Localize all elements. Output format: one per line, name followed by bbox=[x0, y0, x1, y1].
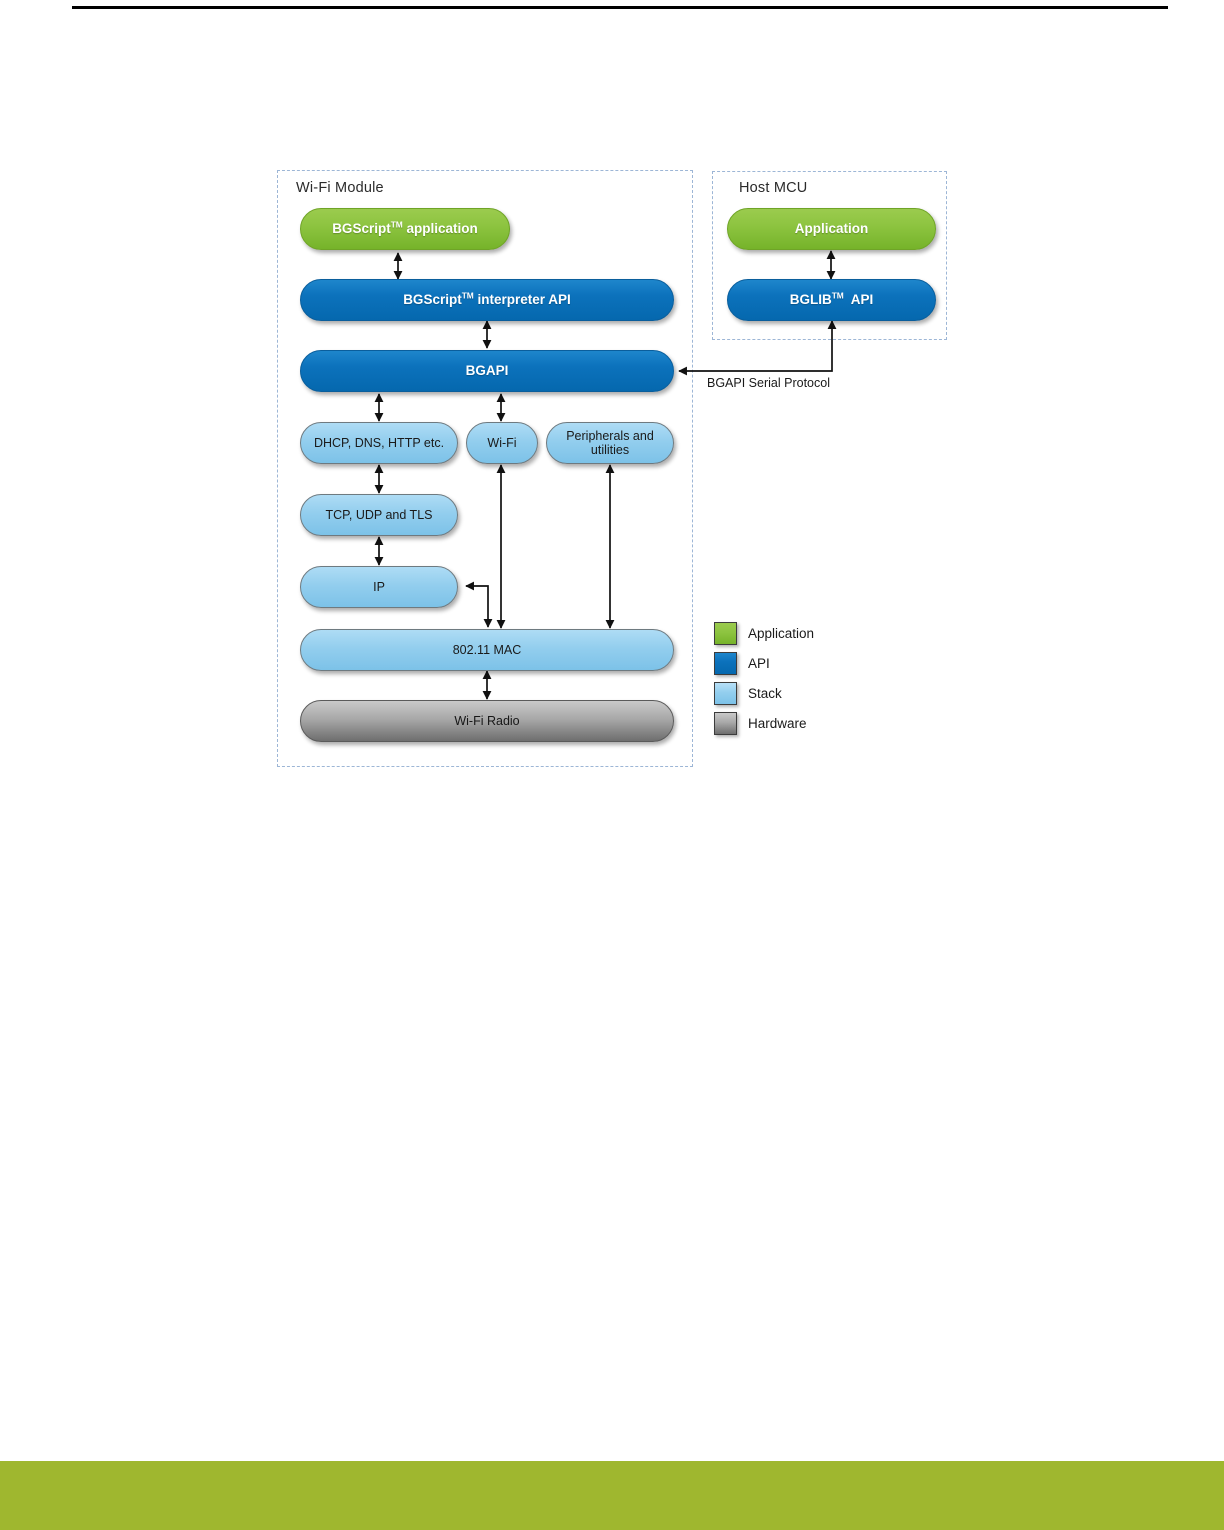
node-bglib-api[interactable]: BGLIBTM API bbox=[727, 279, 936, 321]
node-wifi[interactable]: Wi-Fi bbox=[466, 422, 538, 464]
legend-label: Stack bbox=[748, 686, 782, 701]
node-bgscript-interpreter-api[interactable]: BGScriptTM interpreter API bbox=[300, 279, 674, 321]
node-tcp-udp-tls[interactable]: TCP, UDP and TLS bbox=[300, 494, 458, 536]
legend: Application API Stack Hardware bbox=[714, 618, 814, 738]
node-bgapi[interactable]: BGAPI bbox=[300, 350, 674, 392]
legend-swatch-hardware-icon bbox=[714, 712, 737, 735]
legend-swatch-application-icon bbox=[714, 622, 737, 645]
legend-label: API bbox=[748, 656, 770, 671]
page-top-rule bbox=[72, 6, 1168, 9]
node-label: Wi-Fi bbox=[479, 436, 524, 450]
legend-item-application: Application bbox=[714, 618, 814, 648]
container-wifi-module-title: Wi-Fi Module bbox=[296, 180, 384, 196]
node-ip[interactable]: IP bbox=[300, 566, 458, 608]
node-label: IP bbox=[365, 580, 393, 594]
node-application[interactable]: Application bbox=[727, 208, 936, 250]
node-label: BGScriptTM application bbox=[324, 221, 486, 236]
node-dhcp-dns-http[interactable]: DHCP, DNS, HTTP etc. bbox=[300, 422, 458, 464]
legend-label: Hardware bbox=[748, 716, 807, 731]
node-label: Wi-Fi Radio bbox=[446, 714, 527, 728]
page-footer-band bbox=[0, 1461, 1224, 1530]
node-802-11-mac[interactable]: 802.11 MAC bbox=[300, 629, 674, 671]
legend-item-api: API bbox=[714, 648, 814, 678]
node-label: BGScriptTM interpreter API bbox=[395, 292, 579, 307]
node-label: DHCP, DNS, HTTP etc. bbox=[306, 436, 452, 450]
node-bgscript-application[interactable]: BGScriptTM application bbox=[300, 208, 510, 250]
container-wifi-module bbox=[277, 170, 693, 767]
label-bgapi-serial-protocol: BGAPI Serial Protocol bbox=[707, 376, 830, 390]
legend-label: Application bbox=[748, 626, 814, 641]
node-label: Peripherals and utilities bbox=[547, 429, 673, 457]
page-canvas: Wi-Fi Module Host MCU bbox=[0, 0, 1224, 1530]
container-host-mcu-title: Host MCU bbox=[739, 180, 807, 196]
legend-item-stack: Stack bbox=[714, 678, 814, 708]
node-peripherals-utilities[interactable]: Peripherals and utilities bbox=[546, 422, 674, 464]
node-label: TCP, UDP and TLS bbox=[317, 508, 440, 522]
node-label: BGAPI bbox=[458, 363, 517, 378]
legend-swatch-stack-icon bbox=[714, 682, 737, 705]
node-label: 802.11 MAC bbox=[445, 643, 530, 657]
legend-item-hardware: Hardware bbox=[714, 708, 814, 738]
node-wifi-radio[interactable]: Wi-Fi Radio bbox=[300, 700, 674, 742]
node-label: Application bbox=[787, 221, 877, 236]
node-label: BGLIBTM API bbox=[782, 292, 882, 307]
legend-swatch-api-icon bbox=[714, 652, 737, 675]
